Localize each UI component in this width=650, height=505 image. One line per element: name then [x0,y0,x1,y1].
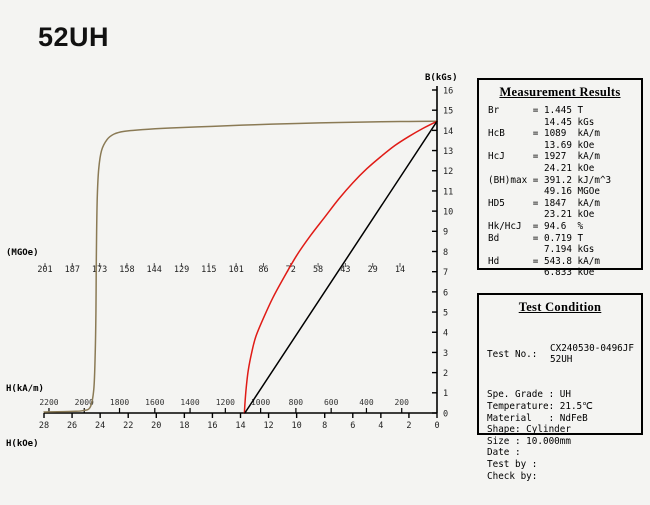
measurement-row: Br = 1.445 T [488,105,641,117]
measurement-row: Bd = 0.719 T [488,233,641,245]
test-condition-detail-rows: Spe. Grade : UHTemperature: 21.5℃Materia… [487,389,641,482]
mgoe-tick-label: 129 [174,265,189,275]
mgoe-tick-label: 187 [65,265,80,275]
x-tick-label-koe: 20 [151,421,161,431]
test-condition-row: Date : [487,447,641,459]
x-tick-label-koe: 10 [292,421,302,431]
y-tick-label: 8 [443,248,448,258]
measurement-row: HD5 = 1847 kA/m [488,198,641,210]
x-tick-label-koe: 14 [235,421,245,431]
y-tick-label: 4 [443,329,448,339]
test-condition-row: Temperature: 21.5℃ [487,401,641,413]
x-tick-label-koe: 4 [378,421,383,431]
x-tick-label-kam: 2200 [39,398,58,407]
test-condition-heading: Test Condition [479,300,641,315]
y-tick-label: 2 [443,369,448,379]
test-no-label: Test No.: [487,349,537,361]
test-condition-row: Size : 10.000mm [487,436,641,448]
measurement-results-panel: Measurement Results Br = 1.445 T 14.45 k… [477,78,643,270]
measurement-row: (BH)max = 391.2 kJ/m^3 [488,175,641,187]
test-condition-row: Shape: Cylinder [487,424,641,436]
test-no-value-secondary: 52UH [550,354,572,366]
y-tick-label: 9 [443,228,448,238]
y-tick-label: 11 [443,187,453,197]
x-tick-label-koe: 24 [95,421,105,431]
x-axis-title-koe: H(kOe) [6,439,39,449]
y-tick-label: 12 [443,167,453,177]
mgoe-tick-label: 58 [313,265,323,275]
x-tick-label-kam: 1400 [180,398,199,407]
mgoe-tick-label: 14 [395,265,405,275]
test-condition-row: Material : NdFeB [487,413,641,425]
x-tick-label-koe: 12 [263,421,273,431]
x-tick-label-kam: 400 [359,398,374,407]
y-tick-label: 1 [443,389,448,399]
x-tick-label-kam: 200 [394,398,409,407]
mgoe-tick-label: 201 [37,265,52,275]
measurement-row-secondary: 7.194 kGs [488,244,641,256]
x-axis-title-kam: H(kA/m) [6,384,44,394]
y-tick-label: 15 [443,107,453,117]
x-tick-label-kam: 600 [324,398,339,407]
measurement-row: HcB = 1089 kA/m [488,128,641,140]
mgoe-tick-label: 29 [368,265,378,275]
mgoe-tick-label: 173 [92,265,107,275]
y-tick-label: 6 [443,288,448,298]
y-tick-label: 14 [443,127,453,137]
app-root: 52UH 012345678910111213141516B(kGs)28262… [0,0,650,455]
measurement-row: Hk/HcJ = 94.6 % [488,221,641,233]
mgoe-tick-label: 101 [228,265,243,275]
mgoe-tick-label: 86 [258,265,268,275]
y-tick-label: 5 [443,308,448,318]
x-tick-label-koe: 22 [123,421,133,431]
x-tick-label-koe: 0 [434,421,439,431]
measurement-row-secondary: 6.833 kOe [488,267,641,279]
test-condition-panel: Test Condition Test No.: CX240530-0496JF… [477,293,643,435]
chart-svg: 012345678910111213141516B(kGs)2826242220… [0,0,470,455]
y-tick-label: 0 [443,409,448,419]
y-tick-label: 16 [443,86,453,96]
measurement-results-heading: Measurement Results [479,85,641,100]
mgoe-tick-label: 144 [147,265,162,275]
measurement-row-secondary: 13.69 kOe [488,140,641,152]
test-condition-rows: Test No.: CX240530-0496JF 52UH Spe. Grad… [479,320,641,505]
test-condition-row: Check by: [487,471,641,483]
mgoe-tick-label: 115 [201,265,216,275]
measurement-row: HcJ = 1927 kA/m [488,151,641,163]
x-tick-label-koe: 2 [406,421,411,431]
x-tick-label-kam: 1800 [110,398,129,407]
x-tick-label-koe: 16 [207,421,217,431]
x-tick-label-koe: 26 [67,421,77,431]
x-tick-label-koe: 8 [322,421,327,431]
x-tick-label-koe: 18 [179,421,189,431]
x-tick-label-koe: 28 [39,421,49,431]
x-tick-label-kam: 1600 [145,398,164,407]
y-tick-label: 3 [443,349,448,359]
measurement-results-rows: Br = 1.445 T 14.45 kGsHcB = 1089 kA/m 13… [479,105,641,279]
measurement-row-secondary: 24.21 kOe [488,163,641,175]
measurement-row: Hd = 543.8 kA/m [488,256,641,268]
curve-energy-product-load-line [245,121,437,413]
y-tick-label: 13 [443,147,453,157]
measurement-row-secondary: 49.16 MGOe [488,186,641,198]
y-tick-label: 7 [443,268,448,278]
x-tick-label-koe: 6 [350,421,355,431]
y-axis-title: B(kGs) [425,73,458,83]
mgoe-axis-title: (MGOe) [6,248,39,258]
mgoe-tick-label: 158 [119,265,134,275]
x-tick-label-kam: 1200 [216,398,235,407]
measurement-row-secondary: 14.45 kGs [488,117,641,129]
measurement-row-secondary: 23.21 kOe [488,209,641,221]
bh-curve-chart: 012345678910111213141516B(kGs)2826242220… [0,0,470,455]
x-tick-label-kam: 800 [289,398,304,407]
test-condition-row: Test by : [487,459,641,471]
y-tick-label: 10 [443,208,453,218]
test-no-value-primary: CX240530-0496JF [550,343,634,355]
test-no-row: Test No.: CX240530-0496JF 52UH [487,343,641,366]
